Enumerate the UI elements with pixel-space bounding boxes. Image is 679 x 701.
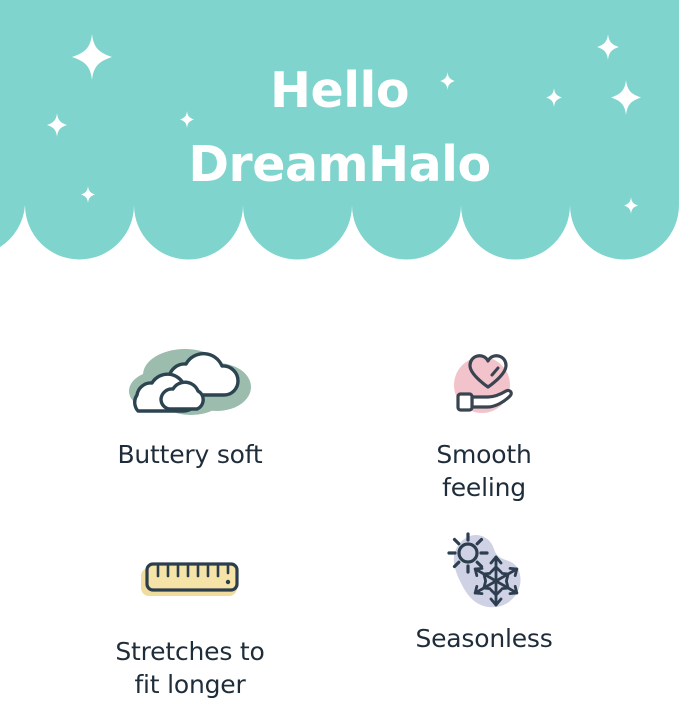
sparkle-icon bbox=[624, 197, 638, 214]
feature-item-stretches-to-fit-longer: Stretches to fit longer bbox=[50, 537, 330, 701]
feature-icon-wrap bbox=[50, 340, 330, 430]
feature-item-seasonless: Seasonless bbox=[344, 524, 624, 655]
hero-banner: Hello DreamHalo bbox=[0, 0, 679, 262]
hand-holding-heart-icon bbox=[444, 345, 524, 425]
sparkle-icon bbox=[47, 113, 67, 137]
sparkle-icon bbox=[81, 186, 95, 203]
feature-label: Seasonless bbox=[344, 622, 624, 655]
sparkle-icon bbox=[546, 88, 562, 107]
cloud-icon bbox=[117, 343, 263, 427]
feature-label: Stretches to fit longer bbox=[50, 635, 330, 701]
feature-label: Smooth feeling bbox=[344, 438, 624, 504]
sparkle-icon bbox=[611, 80, 641, 115]
sun-snowflake-icon bbox=[434, 523, 534, 615]
ruler-icon bbox=[135, 554, 245, 610]
feature-icon-wrap bbox=[344, 340, 624, 430]
feature-item-buttery-soft: Buttery soft bbox=[50, 340, 330, 471]
feature-item-smooth-feeling: Smooth feeling bbox=[344, 340, 624, 504]
sparkle-icon bbox=[180, 111, 194, 128]
feature-icon-wrap bbox=[344, 524, 624, 614]
sparkle-icon bbox=[597, 34, 619, 60]
feature-grid: Buttery soft Smooth feeling bbox=[0, 262, 679, 676]
feature-icon-wrap bbox=[50, 537, 330, 627]
feature-label: Buttery soft bbox=[50, 438, 330, 471]
sparkle-icon bbox=[440, 72, 455, 90]
sparkle-icon bbox=[72, 34, 112, 80]
